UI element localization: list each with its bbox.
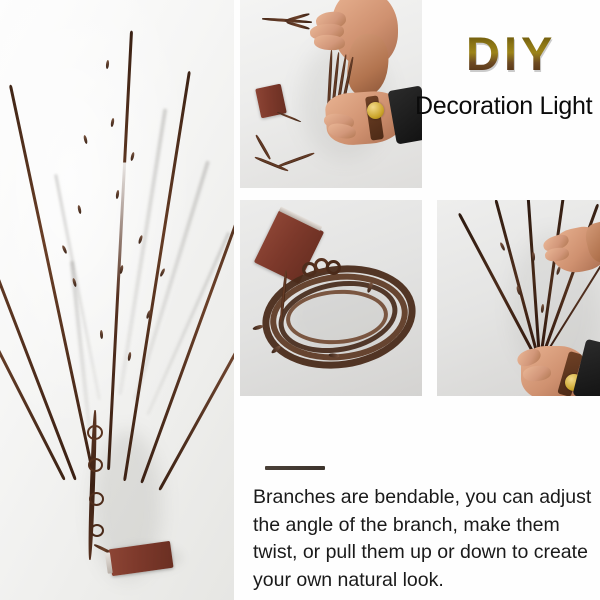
section-divider-rule [265,466,325,470]
bending-branches-photo [240,0,422,188]
headline-diy: DIY [466,30,556,77]
led-bud [499,242,506,251]
led-branch-stem [255,134,271,160]
trunk-twist [90,524,104,537]
description-line: the angle of the branch, make them [253,512,593,540]
subtitle-decoration-light: Decoration Light [415,92,600,121]
product-marketing-image: DIY Decoration Light Branches are bendab… [0,0,600,600]
description-line: Branches are bendable, you can adjust [253,484,593,512]
product-description: Branches are bendable, you can adjust th… [253,484,593,595]
trunk-twist [87,425,103,440]
coiled-product-photo [240,200,422,396]
description-line: twist, or pull them up or down to create [253,539,593,567]
led-bud [252,324,264,331]
trunk-twist [89,492,104,506]
finger [314,34,346,51]
wristwatch-face [367,102,384,119]
led-branch-stem [276,152,315,168]
description-line: your own natural look. [253,567,593,595]
trunk-twist [88,458,103,472]
assembled-branch-light-photo [0,0,234,600]
trunk-twist [326,260,341,275]
adjusting-branches-photo [437,200,600,396]
lead-wire [276,111,301,123]
